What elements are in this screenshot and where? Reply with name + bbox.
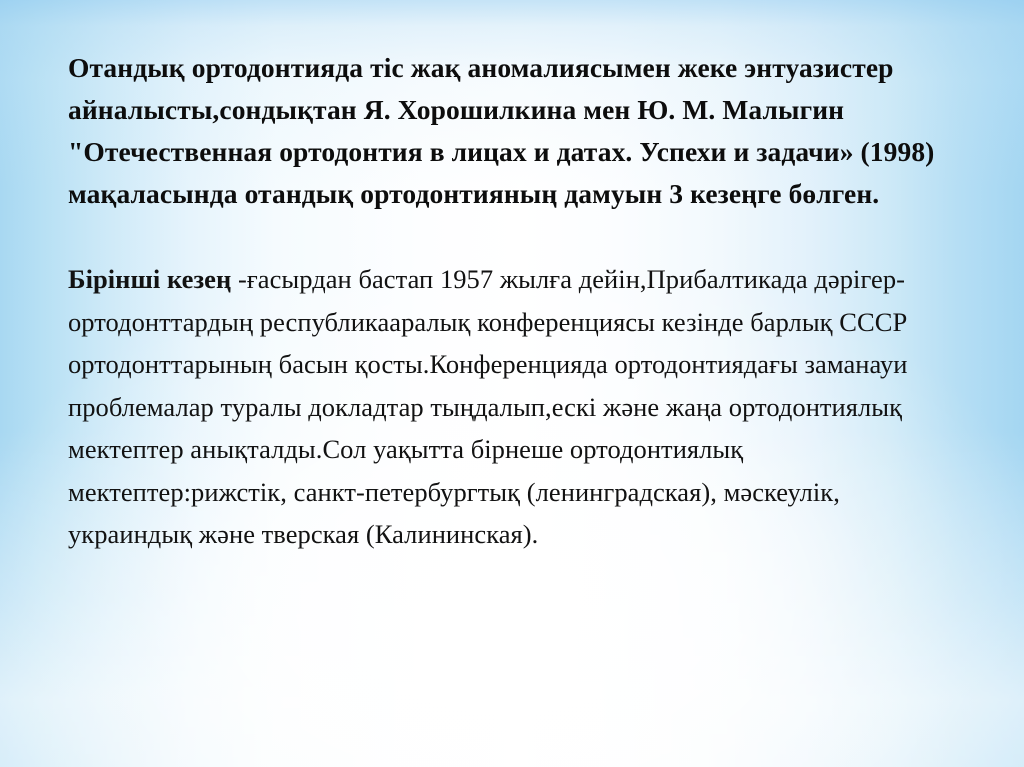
slide-paragraph: Бірінші кезең -ғасырдан бастап 1957 жылғ… (68, 258, 968, 556)
heading-paragraph-spacer (68, 215, 968, 258)
paragraph-lead-label: Бірінші кезең (68, 264, 231, 294)
slide-canvas: Отандық ортодонтияда тіс жақ аномалиясым… (0, 0, 1024, 767)
slide-heading: Отандық ортодонтияда тіс жақ аномалиясым… (68, 47, 968, 215)
paragraph-body: -ғасырдан бастап 1957 жылға дейін,Прибал… (68, 264, 908, 549)
slide-content: Отандық ортодонтияда тіс жақ аномалиясым… (68, 47, 968, 556)
